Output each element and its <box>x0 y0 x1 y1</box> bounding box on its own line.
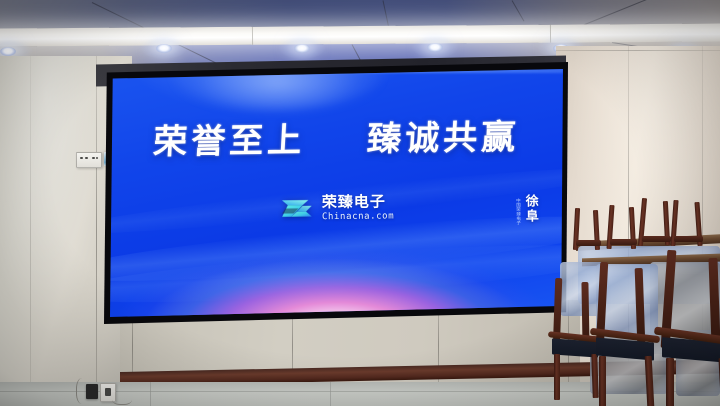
brand-name-cn: 荣臻电子 <box>321 194 393 210</box>
power-outlet-icon[interactable] <box>76 152 102 168</box>
side-stamp-small: 中国荣臻电子 <box>515 194 520 225</box>
side-stamp: 中国荣臻电子 徐阜 <box>515 194 537 225</box>
cable-icon <box>112 392 132 405</box>
cable-icon <box>76 378 91 404</box>
brand-name-en: Chinacna.com <box>321 212 393 222</box>
led-video-wall[interactable]: 荣誉至上 臻诚共赢 <box>104 62 568 324</box>
downlight-icon <box>156 44 172 53</box>
brand-lockup: 荣臻电子 Chinacna.com <box>279 193 394 222</box>
double-arrow-logo-icon <box>279 194 313 222</box>
downlight-icon <box>427 43 443 52</box>
headline-left: 荣誉至上 <box>152 120 306 162</box>
headline: 荣誉至上 臻诚共赢 <box>110 109 563 164</box>
screen-panel: 荣誉至上 臻诚共赢 <box>110 68 563 318</box>
room-scene: 荣誉至上 臻诚共赢 <box>0 0 720 406</box>
brand-text: 荣臻电子 Chinacna.com <box>321 194 394 222</box>
headline-right: 臻诚共赢 <box>366 117 520 159</box>
side-stamp-large: 徐阜 <box>523 194 538 224</box>
downlight-icon <box>294 44 310 53</box>
downlight-icon <box>0 47 16 56</box>
